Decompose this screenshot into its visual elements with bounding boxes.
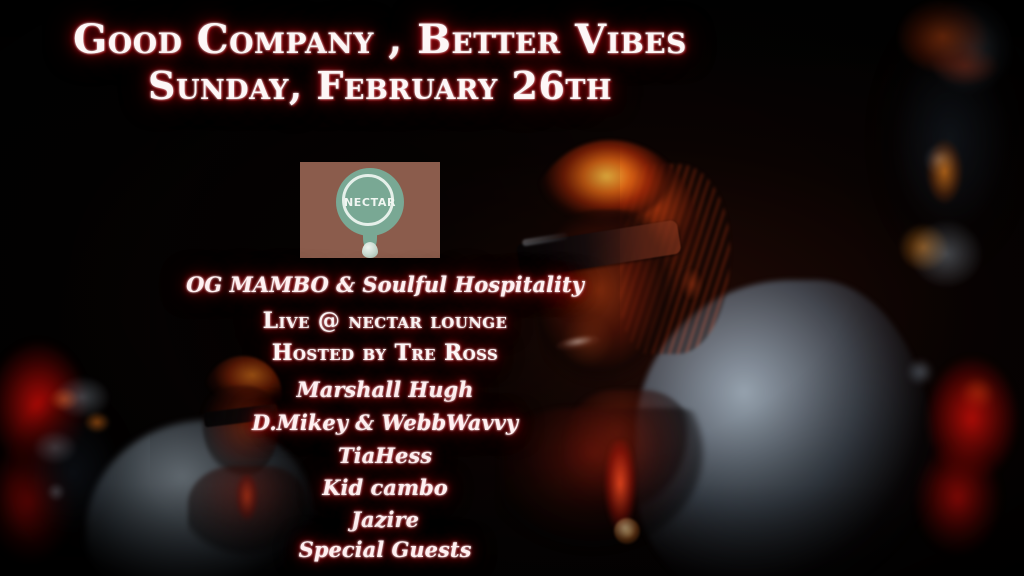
event-flyer: Good Company , Better Vibes Sunday, Febr… xyxy=(0,0,1024,576)
flyer-title: Good Company , Better Vibes xyxy=(0,16,760,63)
lineup-item: Special Guests xyxy=(150,537,620,562)
credit-hosts: OG MAMBO & Soulful Hospitality xyxy=(150,272,620,297)
nectar-logo: NECTAR xyxy=(300,162,440,258)
host-line: Hosted by Tre Ross xyxy=(150,340,620,366)
venue-line: Live @ nectar lounge xyxy=(150,308,620,334)
lineup-item: Jazire xyxy=(150,507,620,532)
lineup-item: TiaHess xyxy=(150,443,620,468)
flyer-date: Sunday, February 26th xyxy=(0,63,760,108)
nectar-logo-mark: NECTAR xyxy=(331,168,409,256)
lineup-item: D.Mikey & WebbWavvy xyxy=(150,410,620,435)
lineup-item: Kid cambo xyxy=(150,475,620,500)
flyer-content: Good Company , Better Vibes Sunday, Febr… xyxy=(0,0,1024,576)
droplet-icon xyxy=(362,242,378,258)
lineup-item: Marshall Hugh xyxy=(150,377,620,402)
nectar-logo-wordmark: NECTAR xyxy=(331,196,409,209)
